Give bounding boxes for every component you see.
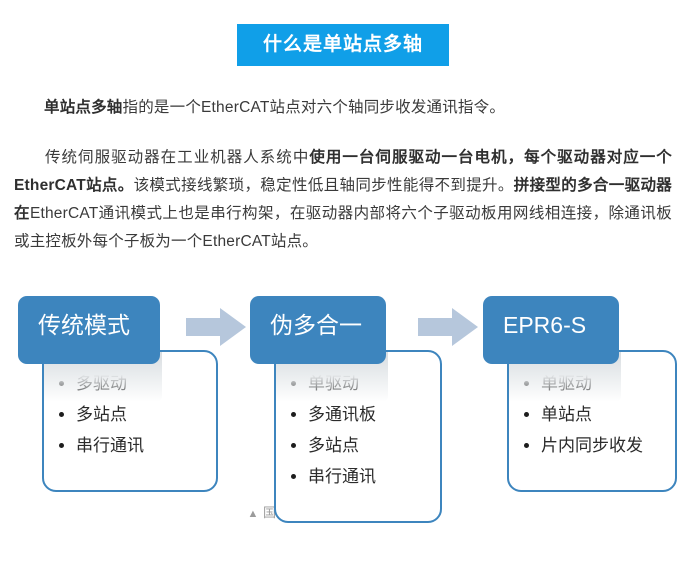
list-item: 多通讯板 — [286, 399, 432, 430]
stage-body: 多驱动 多站点 串行通讯 — [42, 350, 218, 492]
text-run-bold: 单站点多轴 — [44, 99, 123, 116]
stage-bullet-list: 多驱动 多站点 串行通讯 — [54, 368, 208, 461]
text-run: 传统伺服驱动器在工业机器人系统中 — [45, 149, 309, 166]
intro-paragraph: 单站点多轴指的是一个EtherCAT站点对六个轴同步收发通讯指令。 — [44, 94, 664, 122]
list-item: 多站点 — [286, 430, 432, 461]
list-item: 串行通讯 — [54, 430, 208, 461]
body-paragraph: 传统伺服驱动器在工业机器人系统中使用一台伺服驱动一台电机，每个驱动器对应一个Et… — [14, 144, 672, 256]
stage-header-label: 伪多合一 — [250, 296, 386, 364]
list-item: 串行通讯 — [286, 461, 432, 492]
text-run: EtherCAT通讯模式上也是串行构架，在驱动器内部将六个子驱动板用网线相连接，… — [14, 205, 672, 250]
list-item: 单驱动 — [286, 368, 432, 399]
evolution-diagram: 多驱动 多站点 串行通讯 传统模式 单驱动 多通讯板 多站点 串行通讯 伪多合一 — [0, 284, 686, 484]
stage-header-label: EPR6-S — [483, 296, 619, 364]
text-run: 指的是一个EtherCAT站点对六个轴同步收发通讯指令。 — [123, 99, 506, 116]
list-item: 多站点 — [54, 399, 208, 430]
stage-body: 单驱动 单站点 片内同步收发 — [507, 350, 677, 492]
triangle-up-icon: ▲ — [248, 508, 259, 520]
list-item: 单站点 — [519, 399, 667, 430]
stage-header-label: 传统模式 — [18, 296, 160, 364]
banner-row: 什么是单站点多轴 — [0, 0, 686, 66]
stage-body: 单驱动 多通讯板 多站点 串行通讯 — [274, 350, 442, 523]
page-title-banner: 什么是单站点多轴 — [237, 24, 449, 66]
arrow-right-icon — [186, 306, 246, 348]
list-item: 片内同步收发 — [519, 430, 667, 461]
stage-bullet-list: 单驱动 多通讯板 多站点 串行通讯 — [286, 368, 432, 492]
arrow-right-icon — [418, 306, 478, 348]
text-run: 该模式接线繁琐，稳定性低且轴同步性能得不到提升。 — [134, 177, 514, 194]
list-item: 多驱动 — [54, 368, 208, 399]
list-item: 单驱动 — [519, 368, 667, 399]
stage-bullet-list: 单驱动 单站点 片内同步收发 — [519, 368, 667, 461]
